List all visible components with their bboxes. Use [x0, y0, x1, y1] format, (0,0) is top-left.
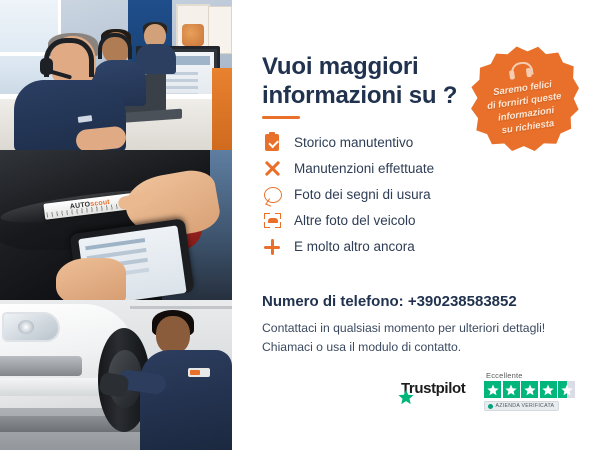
crossed-tools-icon: [262, 159, 284, 179]
title-divider: [262, 116, 300, 119]
feature-item-foto-segni-usura: Foto dei segni di usura: [262, 182, 562, 208]
car-inspection-scale-tablet-photo: AUTOscout: [0, 150, 232, 300]
photo-scan-car-icon: [262, 211, 284, 231]
mechanic: [140, 310, 232, 450]
trustpilot-star-rating: [484, 381, 575, 398]
feature-item-manutenzioni-effettuate: Manutenzioni effettuate: [262, 156, 562, 182]
rating-star-4: [540, 381, 557, 398]
page-title: Vuoi maggiori informazioni su ?: [262, 52, 492, 111]
car-bumper: [0, 378, 102, 396]
trustpilot-rating-label: Eccellente: [486, 371, 523, 380]
rating-star-2: [503, 381, 520, 398]
info-on-request-badge: Saremo felici di fornirti queste informa…: [461, 39, 587, 160]
rating-star-1: [484, 381, 501, 398]
orange-accent-strip: [212, 68, 232, 150]
headset-icon: [509, 61, 531, 80]
speech-bubble-icon: [262, 185, 284, 205]
feature-label: E molto altro ancora: [294, 240, 415, 254]
plus-icon: [262, 237, 284, 257]
car-grille: [0, 356, 82, 376]
feature-label: Manutenzioni effettuate: [294, 162, 434, 176]
verified-label: AZIENDA VERIFICATA: [496, 403, 555, 409]
page-title-line-2: informazioni su ?: [262, 81, 492, 110]
rating-star-3: [521, 381, 538, 398]
verified-check-icon: [488, 404, 493, 409]
contact-line-2: Chiamaci o usa il modulo di contatto.: [262, 338, 582, 357]
foreground-agent: [14, 36, 126, 150]
rating-star-5-partial: [558, 381, 575, 398]
clipboard-check-icon: [262, 133, 284, 153]
contact-line-1: Contattaci in qualsiasi momento per ulte…: [262, 319, 582, 338]
feature-label: Foto dei segni di usura: [294, 188, 431, 202]
call-center-headset-photo: [0, 0, 232, 150]
trustpilot-logo: Trustpilot: [398, 380, 465, 397]
feature-label: Altre foto del veicolo: [294, 214, 416, 228]
trustpilot-widget[interactable]: Trustpilot Eccellente AZIENDA VERIFICATA: [398, 371, 584, 415]
inspector-hand-lower: [56, 258, 126, 300]
contact-instructions: Contattaci in qualsiasi momento per ulte…: [262, 319, 582, 357]
photo-column: AUTOscout: [0, 0, 232, 450]
mechanic-wheel-workshop-photo: [0, 300, 232, 450]
phone-number[interactable]: Numero di telefono: +390238583852: [262, 293, 517, 310]
verified-business-badge: AZIENDA VERIFICATA: [484, 401, 559, 411]
page-title-line-1: Vuoi maggiori: [262, 53, 419, 80]
feature-item-molto-altro: E molto altro ancora: [262, 234, 562, 260]
wall-trim: [130, 306, 232, 309]
car-headlight: [2, 312, 60, 342]
feature-label: Storico manutentivo: [294, 136, 413, 150]
feature-item-altre-foto-veicolo: Altre foto del veicolo: [262, 208, 562, 234]
promo-banner: AUTOscout Vuoi: [0, 0, 600, 450]
